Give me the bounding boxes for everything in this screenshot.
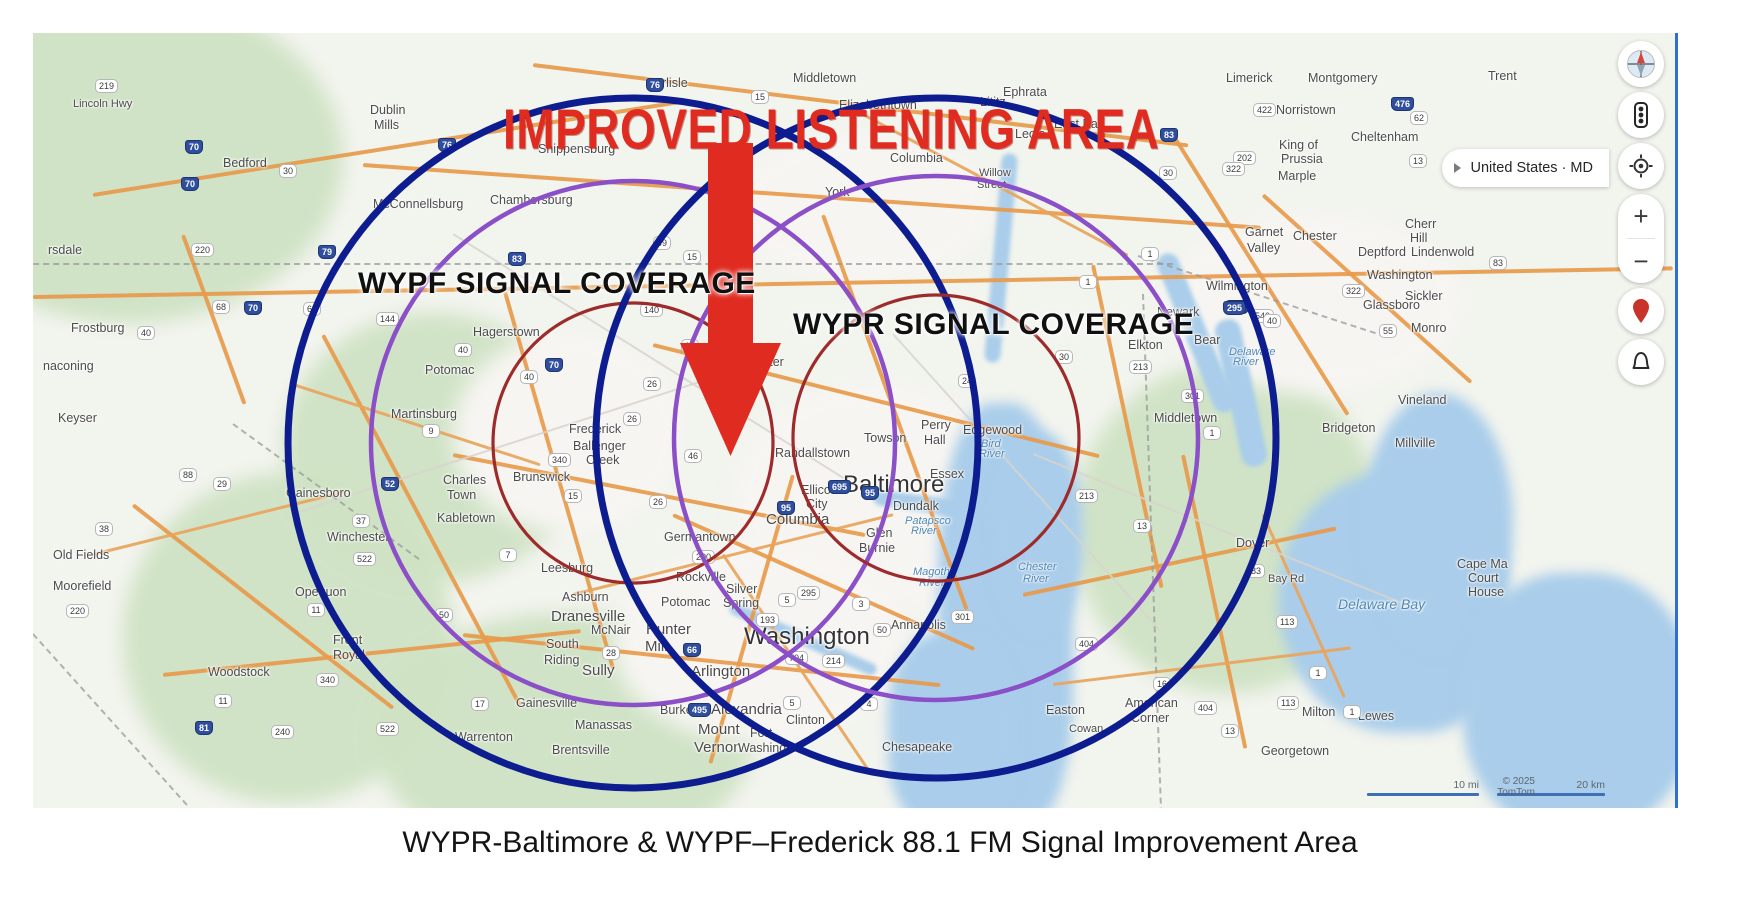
figure-caption: WYPR-Baltimore & WYPF–Frederick 88.1 FM … [0,826,1760,860]
route-shield: 214 [822,654,845,668]
route-shield: 404 [1194,701,1217,715]
route-shield: 322 [1222,162,1245,176]
interstate-shield: 81 [195,721,213,735]
route-shield: 301 [1181,389,1204,403]
crosshair-icon [1629,154,1653,178]
route-shield: 26 [649,495,667,509]
route-shield: 4 [860,697,878,711]
scale-bar-miles: 10 mi [1367,779,1479,796]
alert-button[interactable] [1618,339,1664,385]
chesapeake-bay [993,433,1083,633]
route-shield: 68 [212,300,230,314]
interstate-shield: 495 [688,703,711,717]
route-shield: 1 [1309,666,1327,680]
interstate-shield: 95 [861,486,879,500]
route-shield: 240 [271,725,294,739]
route-shield: 213 [1075,489,1098,503]
route-shield: 220 [66,604,89,618]
route-shield: 38 [95,522,113,536]
route-shield: 99 [653,236,671,250]
zoom-controls[interactable]: + − [1618,194,1664,283]
interstate-shield: 66 [683,643,701,657]
route-shield: 13 [1221,724,1239,738]
wypr-coverage-label: WYPR SIGNAL COVERAGE [793,308,1194,342]
route-shield: 193 [756,613,779,627]
scale-miles-bar [1367,793,1479,796]
interstate-shield: 476 [1391,97,1414,111]
compass-button[interactable] [1618,41,1664,87]
country-region-pill[interactable]: United States · MD [1442,149,1610,187]
route-shield: 40 [520,370,538,384]
expand-arrow-icon [1454,163,1461,173]
traffic-light-icon [1630,102,1652,128]
route-shield: 322 [1342,284,1365,298]
route-shield: 220 [191,243,214,257]
interstate-shield: 70 [244,301,262,315]
route-shield: 3 [852,597,870,611]
map-controls-panel[interactable]: + − [1613,41,1669,385]
route-shield: 7 [499,548,517,562]
route-shield: 68 [303,302,321,316]
wypf-coverage-label: WYPF SIGNAL COVERAGE [358,267,756,301]
route-shield: 340 [316,673,339,687]
scale-miles-label: 10 mi [1367,779,1479,791]
route-shield: 30 [1055,350,1073,364]
zoom-in-button[interactable]: + [1618,194,1664,238]
route-shield: 213 [1129,360,1152,374]
country-region-label: United States · MD [1471,160,1594,176]
route-shield: 1 [1141,247,1159,261]
route-shield: 30 [279,164,297,178]
route-shield: 11 [307,603,325,617]
interstate-shield: 79 [318,245,336,259]
route-shield: 28 [602,646,620,660]
route-shield: 50 [435,608,453,622]
map-pin-button[interactable] [1618,288,1664,334]
route-shield: 113 [1276,615,1298,629]
route-shield: 40 [1263,314,1281,328]
route-shield: 200 [692,550,715,564]
bell-icon [1630,350,1652,374]
route-shield: 83 [1247,564,1265,578]
scale-bar-kilometers: 20 km © 2025 TomTom [1497,779,1605,796]
interstate-shield: 70 [545,358,563,372]
route-shield: 522 [353,552,376,566]
traffic-button[interactable] [1618,92,1664,138]
route-shield: 9 [422,424,440,438]
route-shield: 219 [95,79,118,93]
locate-me-button[interactable] [1618,143,1664,189]
state-border [33,263,1173,265]
route-shield: 404 [1075,637,1098,651]
interstate-shield: 70 [181,177,199,191]
route-shield: 422 [1253,103,1276,117]
route-shield: 83 [1489,256,1507,270]
route-shield: 29 [213,477,231,491]
route-shield: 17 [471,697,489,711]
route-shield: 301 [951,610,974,624]
route-shield: 62 [1410,111,1428,125]
route-shield: 26 [623,412,641,426]
route-shield: 50 [873,623,891,637]
route-shield: 24 [958,374,976,388]
route-shield: 16 [1153,677,1171,691]
route-shield: 37 [352,514,370,528]
route-shield: 522 [376,722,399,736]
map-attribution: © 2025 TomTom [1497,776,1535,798]
interstate-shield: 83 [1160,128,1178,142]
route-shield: 5 [778,593,796,607]
route-shield: 295 [797,586,820,600]
route-shield: 40 [454,343,472,357]
route-shield: 15 [564,489,582,503]
route-shield: 140 [640,303,663,317]
chesapeake-bay [888,633,1018,808]
map-canvas[interactable]: Lincoln HwyDublinMillsCarlisleMiddletown… [33,33,1678,808]
route-shield: 13 [1409,154,1427,168]
route-shield: 5 [783,696,801,710]
route-shield: 26 [643,377,661,391]
interstate-shield: 295 [1223,301,1246,315]
route-shield: 340 [548,453,571,467]
route-shield: 40 [137,326,155,340]
interstate-shield: 95 [777,501,795,515]
zoom-out-button[interactable]: − [1618,239,1664,283]
interstate-shield: 76 [646,78,664,92]
route-shield: 1 [1343,705,1361,719]
route-shield: 1 [1079,275,1097,289]
route-shield: 55 [1379,324,1397,338]
interstate-shield: 52 [381,477,399,491]
route-shield: 113 [1277,696,1299,710]
route-shield: 1 [1203,426,1221,440]
interstate-shield: 695 [828,480,851,494]
route-shield: 11 [214,694,232,708]
interstate-shield: 76 [438,138,456,152]
route-shield: 88 [179,468,197,482]
improved-listening-area-title: IMPROVED LISTENING AREA [503,96,1159,162]
route-shield: 30 [1159,166,1177,180]
route-shield: 13 [1133,519,1151,533]
interstate-shield: 83 [508,252,526,266]
route-shield: 704 [785,651,808,665]
route-shield: 144 [376,312,399,326]
compass-icon [1626,49,1656,79]
signal-coverage-map-page: Lincoln HwyDublinMillsCarlisleMiddletown… [0,0,1760,918]
map-pin-icon [1632,298,1650,324]
interstate-shield: 70 [185,140,203,154]
atlantic-ocean [1463,573,1678,808]
